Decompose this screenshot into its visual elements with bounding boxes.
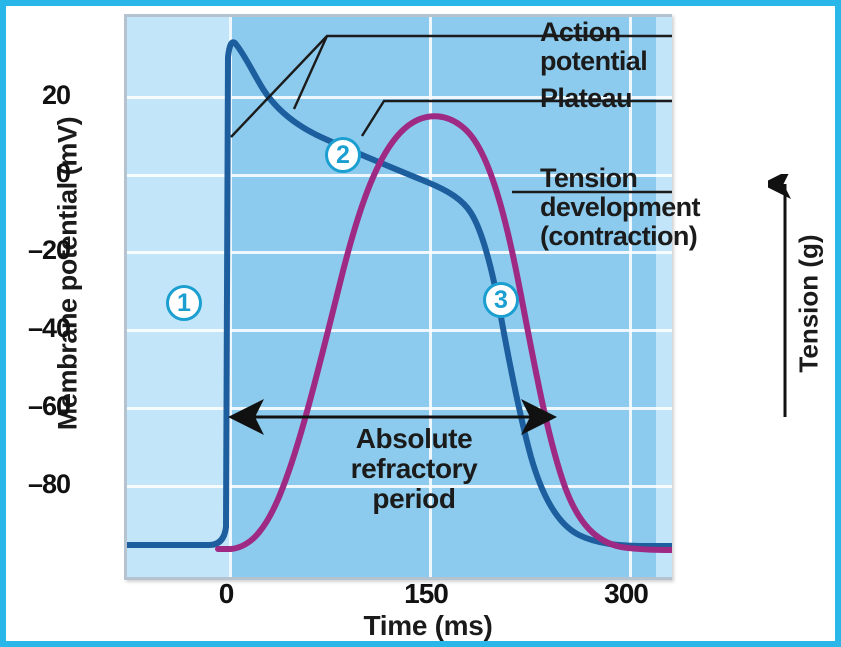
legend-tension-line1: Tension [540,164,700,193]
phase-marker-3[interactable]: 3 [483,282,519,318]
x-tick-label: 150 [381,578,471,610]
phase-marker-2[interactable]: 2 [325,137,361,173]
y-tick-label: –40 [0,313,70,344]
y-tick-label: –60 [0,391,70,422]
x-tick-label: 300 [581,578,671,610]
legend-plateau-line1: Plateau [540,84,632,113]
legend-label-plateau: Plateau [540,84,632,113]
y-tick-label: 0 [0,158,70,189]
refractory-label-line1: Absolute [264,424,564,454]
legend-tension-line2: development [540,193,700,222]
legend-tension-line3: (contraction) [540,222,700,251]
x-axis-title: Time (ms) [228,610,628,642]
phase-marker-1[interactable]: 1 [166,285,202,321]
x-tick-label: 0 [181,578,271,610]
y-tick-label: –80 [0,469,70,500]
figure-container: Membrane potential (mV) 20 0 –20 –40 –60… [0,0,841,647]
y-tick-label: –20 [0,235,70,266]
legend-action-line2: potential [540,47,647,76]
legend-label-tension: Tension development (contraction) [540,164,700,251]
refractory-period-label: Absolute refractory period [264,424,564,514]
refractory-label-line2: refractory [264,454,564,484]
refractory-label-line3: period [264,484,564,514]
legend-action-line1: Action [540,18,647,47]
tension-axis-arrow [768,174,804,419]
y-tick-label: 20 [0,80,70,111]
legend-label-action-potential: Action potential [540,18,647,76]
